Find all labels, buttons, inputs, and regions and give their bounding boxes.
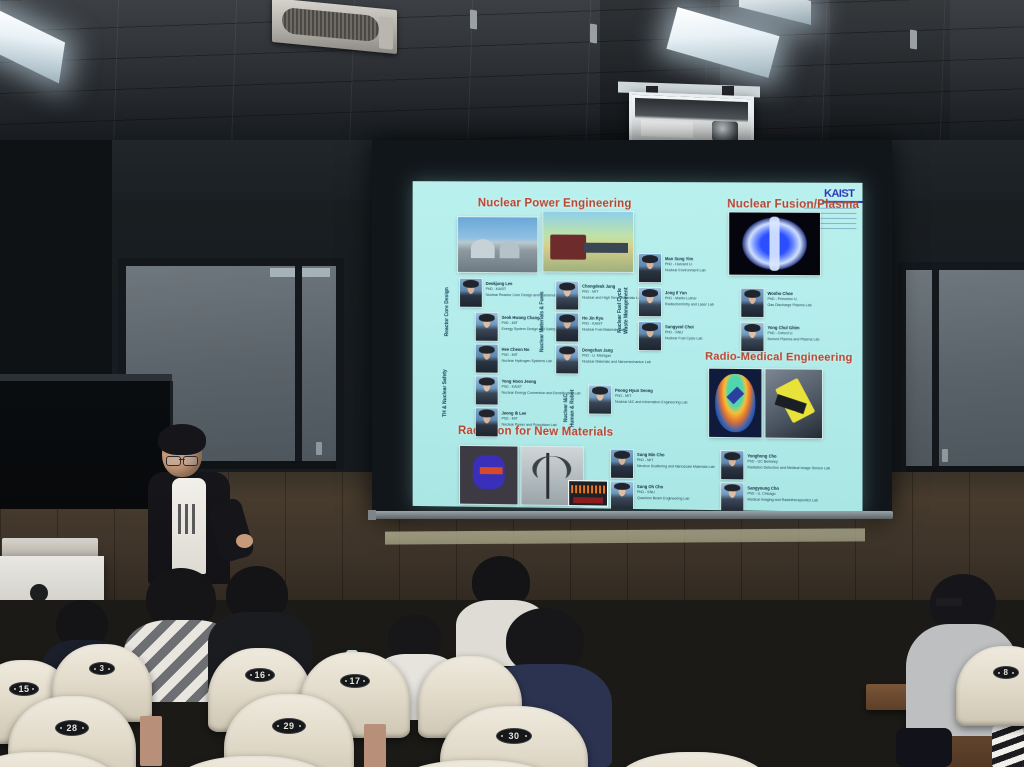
vlabel-reactor-core-design: Reactor Core Design [444,273,450,351]
faculty-entry: Chongdeuk Jang PhD - MIT Nuclear and Hig… [582,284,642,301]
faculty-photo [721,483,743,510]
faculty-degree: PhD - U. Michigan [582,354,611,358]
faculty-photo [611,450,633,478]
faculty-photo [741,323,763,351]
figure-plasma-simulation [729,212,820,275]
faculty-photo [639,254,661,282]
faculty-degree: PhD - MIT [615,394,631,398]
faculty-photo [556,345,578,373]
window-handle[interactable] [316,442,322,455]
faculty-photo [639,288,661,316]
faculty-lab: Nuclear Materials and Nanomechanics Lab [582,359,651,364]
faculty-entry: Poong Hyun Seong PhD - MIT Nuclear I&C a… [615,388,688,406]
podium-top-surface [2,538,98,558]
faculty-photo [589,386,611,414]
screen-bottom-bar [374,511,893,519]
figure-material-map [460,446,517,504]
faculty-degree: PhD - Harvard U. [665,262,693,266]
faculty-entry: Sungyeol Choi PhD - SNU Nuclear Fuel Cyc… [665,324,702,341]
faculty-lab: Burned Plasma and Plasma Lab [767,337,819,341]
faculty-degree: PhD - UC Berkeley [747,460,778,464]
faculty-degree: PhD - MIT [502,353,518,357]
faculty-lab: Quantum Beam Engineering Lab [637,496,689,501]
presenter-hair [158,424,206,455]
section-title-radio-medical: Radio-Medical Engineering [705,351,852,364]
faculty-photo [556,281,578,309]
vlabel-fuel-cycle-waste: Nuclear Fuel Cycle Waste Management [617,270,629,352]
faculty-lab: Gas Discharge Plasma Lab [767,302,811,306]
faculty-entry: Sung Oh Cho PhD - SNU Quantum Beam Engin… [637,484,689,502]
section-title-nuclear-fusion: Nuclear Fusion/Plasma [727,198,859,211]
figure-xray-inspection [765,369,822,438]
faculty-entry: Yong Hoon Jeong PhD - KAIST Nuclear Ener… [502,379,581,397]
figure-nuclear-power-plant [458,217,537,272]
faculty-entry: Ho Jin Ryu PhD - KAIST Nuclear Fuel Mate… [582,316,625,333]
glasses-icon [166,456,198,464]
faculty-lab: Nuclear Hydrogen Systems Lab [502,358,552,362]
faculty-photo [476,376,498,404]
faculty-lab: Neutron Scattering and Nanoscale Materia… [637,464,715,469]
faculty-degree: PhD - Oxford U. [767,331,793,335]
faculty-degree: PhD - SNU [637,490,655,494]
faculty-photo [741,289,763,317]
wall-window-panel-right [898,262,1024,474]
faculty-entry: Hee Cheon No PhD - MIT Nuclear Hydrogen … [502,347,552,364]
faculty-entry: Dongchan Jang PhD - U. Michigan Nuclear … [582,348,651,366]
faculty-entry: Jong Il Yun PhD - Martin-Luther Radioche… [665,290,714,307]
vent-end-cap [379,16,393,49]
seat-armrest [140,716,162,766]
faculty-degree: PhD - KAIST [502,385,522,389]
faculty-photo [476,408,498,436]
faculty-lab: Radiation Detection and Medical Image Se… [747,465,830,470]
ceiling-tile [830,0,950,150]
faculty-entry: Sung Min Cho PhD - MIT Neutron Scatterin… [637,452,715,470]
faculty-photo [721,451,743,479]
faculty-degree: PhD - MIT [502,321,518,325]
faculty-degree: PhD - Princeton U. [767,297,797,301]
faculty-photo [611,482,633,509]
faculty-degree: PhD - Martin-Luther [665,296,697,300]
glasses-icon [936,598,962,606]
faculty-lab: Nuclear Fuel Materials Lab [582,327,625,331]
seat-number: 17 [340,674,370,688]
faculty-lab: Nuclear Fuel Cycle Lab [665,336,702,340]
projector-lens-icon [712,121,738,142]
seat-number: 30 [496,728,532,744]
figure-thin-film-sample [569,481,607,505]
projector-vent [641,120,693,138]
faculty-entry: Wonho Choe PhD - Princeton U. Gas Discha… [767,291,811,308]
faculty-photo [460,279,482,307]
faculty-lab: Nuclear and High Temp Materials Lab [582,295,642,299]
seat-number: 16 [245,668,275,682]
faculty-entry: Jeong Ik Lee PhD - MIT Nuclear Power and… [502,411,557,428]
ceiling-clip [470,10,477,30]
seat-number: 15 [9,682,39,696]
seat-number: 29 [272,718,306,734]
faculty-lab: Nuclear Environment Lab [665,268,706,272]
seat-number: 28 [55,720,89,736]
ceiling-clip [590,24,597,44]
vent-grille [282,7,379,42]
faculty-entry: Sangyoung Cho PhD - U. Chicago Medical I… [747,485,818,503]
seat-number: 8 [993,666,1019,679]
faculty-photo [476,345,498,373]
figure-pet-brain-scan [709,369,761,438]
faculty-entry: Yonghong Cho PhD - UC Berkeley Radiation… [747,453,830,471]
faculty-lab: Nuclear I&C and Information Engineering … [615,399,688,404]
window-mullion [295,266,302,461]
ceiling [0,0,1024,152]
faculty-degree: PhD - SNU [665,330,683,334]
faculty-photo [556,313,578,341]
faculty-photo [639,322,661,350]
window-handle[interactable] [942,449,948,462]
presentation-slide: KAIST Nuclear Power Engineering Nuclear … [413,181,863,512]
figure-transport-cask [543,212,633,272]
faculty-lab: Energy System Design and Safety Lab [502,326,563,330]
presenter-tshirt [172,478,206,574]
window-glass [906,270,1024,466]
faculty-degree: PhD - MIT [582,290,598,294]
ceiling-clip [910,30,917,50]
slide-content: KAIST Nuclear Power Engineering Nuclear … [413,181,863,512]
faculty-lab: Medical Imaging and Radiotherapeutics La… [747,497,818,502]
faculty-degree: PhD - MIT [502,417,518,421]
faculty-degree: PhD - U. Chicago [747,492,775,496]
seat-number: 3 [89,662,115,675]
faculty-degree: PhD - MIT [637,458,653,462]
faculty-lab: Nuclear Energy Conversion and Densificat… [502,390,581,395]
backpack [896,728,952,767]
faculty-entry: Yong Chul Ghim PhD - Oxford U. Burned Pl… [767,325,819,342]
vlabel-th-nuclear-safety: TH & Nuclear Safety [442,356,448,430]
section-title-nuclear-power: Nuclear Power Engineering [478,197,632,210]
faculty-entry: Seok Hwang Chang PhD - MIT Energy System… [502,315,563,332]
faculty-lab: Nuclear Power and Propulsion Lab [502,422,557,427]
faculty-degree: PhD - KAIST [486,287,506,291]
faculty-photo [476,313,498,341]
lecture-hall-photo: KAIST Nuclear Power Engineering Nuclear … [0,0,1024,767]
window-mullion [932,270,939,466]
seat-armrest [364,724,386,767]
faculty-entry: Man Sung Yim PhD - Harvard U. Nuclear En… [665,256,706,273]
presenter-hand [236,534,253,548]
faculty-degree: PhD - KAIST [582,322,603,326]
faculty-lab: Radiochemistry and Laser Lab [665,302,714,306]
